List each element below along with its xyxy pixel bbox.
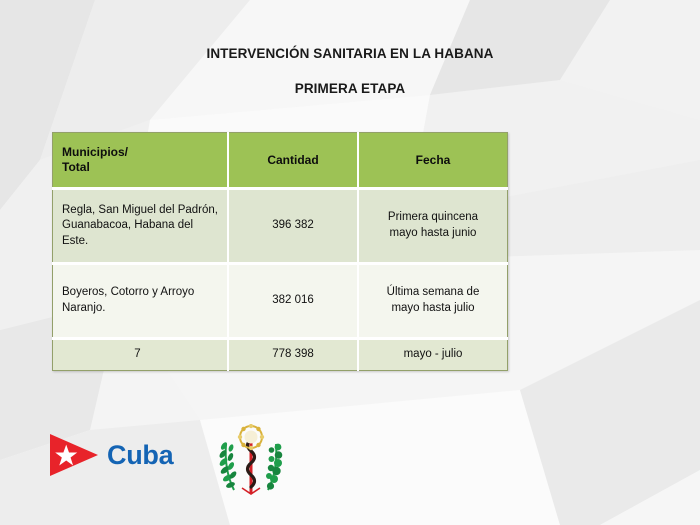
column-header-municipios-line2: Total xyxy=(62,160,90,174)
title-block: INTERVENCIÓN SANITARIA EN LA HABANA PRIM… xyxy=(0,46,700,96)
column-header-fecha: Fecha xyxy=(358,133,508,189)
page-subtitle: PRIMERA ETAPA xyxy=(0,81,700,96)
cell-municipios: Boyeros, Cotorro y Arroyo Naranjo. xyxy=(53,264,229,339)
table-body: Regla, San Miguel del Padrón, Guanabacoa… xyxy=(53,189,508,371)
emblem-right-branch xyxy=(266,444,282,490)
cell-fecha-line1: Primera quincena xyxy=(388,211,478,223)
table-row: Boyeros, Cotorro y Arroyo Naranjo. 382 0… xyxy=(53,264,508,339)
table-header-row: Municipios/ Total Cantidad Fecha xyxy=(53,133,508,189)
cell-total-municipios: 7 xyxy=(53,339,229,371)
cuba-flag-triangle-icon xyxy=(48,432,102,478)
column-header-cantidad: Cantidad xyxy=(228,133,358,189)
cell-fecha: Primera quincena mayo hasta junio xyxy=(358,189,508,264)
column-header-municipios: Municipios/ Total xyxy=(53,133,229,189)
column-header-municipios-line1: Municipios/ xyxy=(62,145,128,159)
emblem-left-branch xyxy=(218,441,238,490)
table-total-row: 7 778 398 mayo - julio xyxy=(53,339,508,371)
cell-fecha-line2: mayo hasta junio xyxy=(390,227,477,239)
cell-total-cantidad: 778 398 xyxy=(228,339,358,371)
cell-fecha-line2: mayo hasta julio xyxy=(391,302,474,314)
cell-total-fecha: mayo - julio xyxy=(358,339,508,371)
cell-fecha: Última semana de mayo hasta julio xyxy=(358,264,508,339)
intervention-table: Municipios/ Total Cantidad Fecha Regla, … xyxy=(52,132,508,371)
table-header: Municipios/ Total Cantidad Fecha xyxy=(53,133,508,189)
cell-cantidad: 396 382 xyxy=(228,189,358,264)
cuba-logo: Cuba xyxy=(48,432,173,478)
cuba-wordmark: Cuba xyxy=(107,440,173,471)
cell-fecha-line1: Última semana de xyxy=(387,286,480,298)
slide-canvas: INTERVENCIÓN SANITARIA EN LA HABANA PRIM… xyxy=(0,0,700,525)
cell-cantidad: 382 016 xyxy=(228,264,358,339)
table-row: Regla, San Miguel del Padrón, Guanabacoa… xyxy=(53,189,508,264)
page-title: INTERVENCIÓN SANITARIA EN LA HABANA xyxy=(0,46,700,61)
cell-municipios: Regla, San Miguel del Padrón, Guanabacoa… xyxy=(53,189,229,264)
emblem-crown xyxy=(238,424,264,450)
health-ministry-emblem-icon xyxy=(208,424,294,496)
